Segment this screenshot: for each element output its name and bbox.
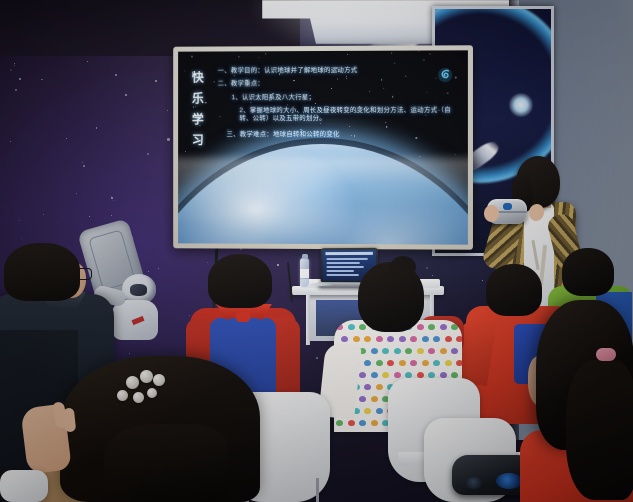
woman-ponytail (104, 424, 228, 502)
chair-leg (316, 478, 319, 502)
pearl-bead (147, 388, 157, 398)
pearl-bead (153, 374, 165, 386)
display-screen: 快 乐 学 习 一、教学目的：认识地球并了解地球的运动方式 二、教学重点： 1、… (178, 50, 468, 244)
man-hair (4, 243, 80, 301)
uniform-right-sleeve (272, 318, 300, 402)
pink-hair-tie (596, 348, 616, 361)
sun-flare (509, 93, 533, 117)
girl-right-ponytail-hair (566, 360, 633, 500)
presenter-left-hand (484, 205, 499, 222)
swirl-logo-icon (437, 66, 454, 83)
screenshot-scene: 快 乐 学 习 一、教学目的：认识地球并了解地球的运动方式 二、教学重点： 1、… (0, 0, 633, 502)
presentation-display[interactable]: 快 乐 学 习 一、教学目的：认识地球并了解地球的运动方式 二、教学重点： 1、… (173, 45, 473, 249)
vtitle-char-0: 快 (192, 67, 210, 88)
device-lens-secondary (466, 477, 482, 489)
boy-center-hair (208, 254, 272, 308)
girl-hair-bun (390, 256, 416, 278)
water-bottle[interactable] (300, 258, 309, 287)
bottle-cap (302, 254, 308, 259)
vtitle-char-2: 学 (192, 109, 210, 130)
laptop-screen-row (326, 262, 359, 264)
child-red-hair (486, 264, 542, 316)
pearl-bead (126, 376, 139, 389)
slide-body-lines: 一、教学目的：认识地球并了解地球的运动方式 二、教学重点： 1、认识太阳系及八大… (218, 66, 456, 144)
laptop-screen-header (325, 252, 372, 255)
pearl-bead (133, 392, 144, 403)
boy-green-hair (562, 248, 614, 296)
laptop-screen-row (326, 274, 358, 276)
slide-line-4: 2、掌握地球的大小、周长及昼夜转变的变化和划分方法、运动方式（自转、公转）以及五… (239, 107, 455, 123)
slide-content: 快 乐 学 习 一、教学目的：认识地球并了解地球的运动方式 二、教学重点： 1、… (178, 50, 468, 63)
pearl-bead (117, 390, 128, 401)
neckerchief-knot (236, 312, 250, 322)
laptop-screen-row (326, 270, 354, 272)
vtitle-char-1: 乐 (192, 88, 210, 109)
desk-leg-left (306, 295, 310, 345)
device-lens (496, 473, 522, 489)
laptop-screen-row (326, 266, 363, 268)
slide-line-3: 1、认识太阳系及八大行星； (231, 93, 455, 102)
slide-line-1: 一、教学目的：认识地球并了解地球的运动方式 (218, 66, 456, 75)
device-label (503, 203, 512, 210)
slide-line-5: 三、教学难点：地球自转和公转的变化 (227, 131, 456, 139)
slide-vertical-title: 快 乐 学 习 (192, 67, 210, 151)
bottle-label (300, 269, 309, 278)
laptop-screen-row (326, 258, 367, 260)
astronaut-visor (130, 284, 147, 296)
chair[interactable] (0, 470, 48, 502)
pearl-bead (140, 370, 153, 383)
slide-line-2: 二、教学重点： (218, 80, 456, 89)
vtitle-char-3: 习 (192, 130, 210, 151)
earth-haze (178, 158, 468, 205)
